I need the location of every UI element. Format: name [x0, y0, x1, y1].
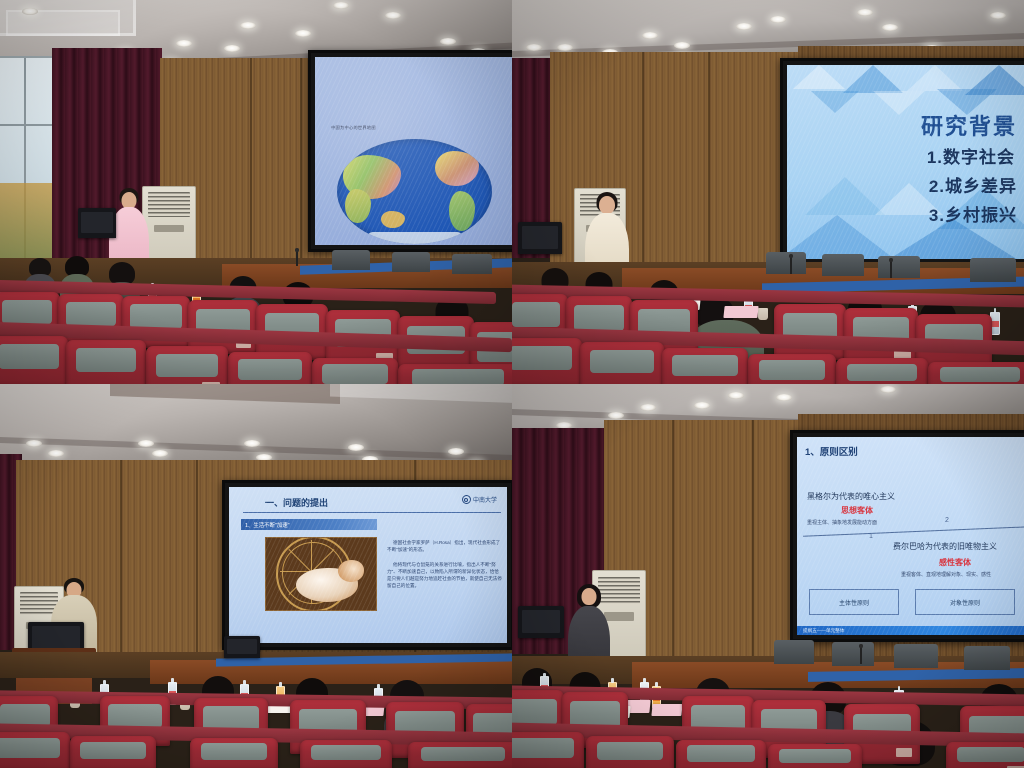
photo-collage: 中国为中心的世界地图 [0, 0, 1024, 768]
ceiling-light [295, 30, 311, 37]
ceiling-light [440, 38, 456, 45]
auditorium-seat [398, 364, 512, 384]
head-table-chair [822, 254, 864, 276]
slide-item: 2.城乡差异 [929, 172, 1017, 197]
ceiling-light [333, 2, 349, 9]
ceiling-light [224, 45, 240, 52]
head-table-chair [964, 646, 1010, 670]
auditorium-seat [946, 742, 1024, 768]
wood-seam [120, 460, 122, 652]
speaker-head [582, 588, 597, 605]
auditorium-seat [928, 362, 1024, 384]
globe-graphic [337, 139, 492, 244]
head-table-chair [832, 642, 874, 666]
auditorium-seat [312, 358, 398, 384]
auditorium-seat [0, 732, 70, 768]
hamster-head [338, 560, 364, 582]
principle-box-label: 主体性原则 [839, 598, 869, 607]
deco-triangle [805, 177, 885, 215]
ceiling-light [694, 402, 710, 409]
ac-vent [148, 192, 190, 217]
slide-footer-label: 提纲五——单元整体 [803, 628, 844, 634]
ceiling-light [770, 16, 786, 23]
projection-screen: 研究背景 1.数字社会 2.城乡差异 3.乡村振兴 [780, 58, 1024, 266]
principle-box-object: 对象性原则 [915, 589, 1015, 615]
auditorium-seat [300, 740, 392, 768]
ceiling-light [776, 394, 792, 401]
deco-triangle [811, 91, 859, 113]
university-seal-icon [462, 495, 471, 504]
slide-world-map: 中国为中心的世界地图 [315, 57, 512, 245]
projection-screen: 1、原则区别 黑格尔为代表的唯心主义 思想客体 重视主体、抽象地发展能动方面 1… [790, 430, 1024, 642]
deco-triangle [907, 65, 963, 91]
auditorium-seat [586, 736, 674, 768]
number-two: 2 [945, 517, 949, 524]
side-monitor [224, 636, 260, 658]
auditorium-seat [774, 304, 846, 360]
ceiling-light [882, 24, 898, 31]
ceiling-light [736, 23, 752, 30]
handout [651, 704, 682, 716]
window-mullion [0, 124, 56, 126]
head-table-chair [392, 252, 430, 272]
map-label: 中国为中心的世界地图 [331, 125, 376, 131]
landmass-north-america [435, 151, 479, 186]
auditorium-seat [836, 358, 928, 384]
table-microphone [860, 646, 862, 664]
auditorium-seat [662, 348, 748, 384]
paper-cup [758, 308, 768, 320]
heading-rule [243, 512, 501, 513]
landmass-africa [345, 189, 371, 223]
ceiling-light [640, 404, 656, 411]
ceiling-light [526, 44, 542, 51]
auditorium-seat [768, 744, 862, 768]
landmass-south-america [449, 191, 475, 231]
ceiling-light [138, 440, 154, 447]
table-microphone [890, 260, 892, 278]
ceiling-light [728, 392, 744, 399]
table-microphone [296, 250, 298, 266]
principle-box-label: 对象性原则 [950, 598, 980, 607]
wood-seam [642, 52, 644, 264]
deco-triangle [793, 65, 845, 89]
university-logo-text: 中南大学 [473, 495, 497, 504]
slide-principle-distinction: 1、原则区别 黑格尔为代表的唯心主义 思想客体 重视主体、抽象地发展能动方面 1… [797, 437, 1024, 635]
presenter-monitor [78, 208, 116, 238]
slide-item: 1.数字社会 [927, 143, 1015, 168]
head-table-chair [774, 640, 814, 664]
head-table-chair [970, 258, 1016, 282]
deco-triangle [843, 65, 903, 93]
ceiling-light [348, 444, 364, 451]
wood-seam [250, 58, 252, 284]
principle-box-subject: 主体性原则 [809, 589, 899, 615]
head-table-chair [332, 250, 370, 270]
screen-surface: 中国为中心的世界地图 [315, 57, 512, 245]
auditorium-seat [748, 354, 836, 384]
slide-problem-statement: 一、问题的提出 中南大学 1、生活不断"加速" [229, 487, 507, 643]
head-table-chair [894, 644, 938, 668]
materialism-highlight: 感性客体 [939, 557, 971, 568]
ceiling-light [22, 8, 38, 15]
panel-world-map-lecture: 中国为中心的世界地图 [0, 0, 512, 384]
wood-seam [196, 460, 198, 652]
wood-seam [708, 52, 710, 264]
landmass-antarctica [367, 232, 463, 244]
auditorium-seat [146, 346, 228, 384]
idealism-detail: 重视主体、抽象地发展能动方面 [807, 519, 877, 526]
ceiling-light [240, 22, 256, 29]
auditorium-seat [580, 342, 664, 384]
slide-heading: 1、原则区别 [805, 444, 858, 458]
auditorium-seat [190, 738, 278, 768]
slide-footer: 提纲五——单元整体 [797, 626, 1024, 635]
idealism-highlight: 思想客体 [841, 505, 873, 516]
table-microphone [790, 256, 792, 274]
wood-seam [672, 420, 674, 666]
window [0, 56, 58, 275]
diagonal-divider [803, 526, 1024, 537]
auditorium-seat [70, 736, 156, 768]
deco-triangle [873, 91, 925, 115]
head-table-chair [452, 254, 492, 274]
speaker-head [599, 196, 615, 214]
auditorium-seat [66, 340, 146, 384]
screen-surface: 1、原则区别 黑格尔为代表的唯心主义 思想客体 重视主体、抽象地发展能动方面 1… [797, 437, 1024, 635]
ceiling-light [608, 412, 624, 419]
university-logo: 中南大学 [462, 495, 497, 504]
auditorium-seat [228, 352, 312, 384]
ceiling-light [48, 450, 64, 457]
number-one: 1 [869, 533, 873, 540]
auditorium-seat [512, 732, 584, 768]
auditorium-seat [0, 336, 68, 384]
auditorium-seat [408, 742, 512, 768]
slide-title: 研究背景 [921, 109, 1017, 141]
materialism-detail: 重视客体、直观地理解对象、现实、感性 [901, 571, 991, 578]
projection-screen: 一、问题的提出 中南大学 1、生活不断"加速" [222, 480, 512, 650]
presenter-monitor [518, 606, 564, 638]
ceiling-coffer [6, 10, 120, 36]
projection-screen: 中国为中心的世界地图 [308, 50, 512, 252]
wood-seam [752, 420, 754, 666]
ac-panel [154, 225, 183, 233]
screen-surface: 研究背景 1.数字社会 2.城乡差异 3.乡村振兴 [787, 65, 1024, 259]
head-table-chair [766, 252, 806, 274]
screen-surface: 一、问题的提出 中南大学 1、生活不断"加速" [229, 487, 507, 643]
hamster-wheel-image [265, 537, 377, 611]
auditorium-seat [676, 740, 766, 768]
auditorium-seat [512, 338, 582, 384]
presenter-monitor [518, 222, 562, 254]
wood-seam [300, 58, 302, 284]
panel-principle-distinction: 1、原则区别 黑格尔为代表的唯心主义 思想客体 重视主体、抽象地发展能动方面 1… [512, 384, 1024, 768]
ceiling-light [857, 9, 873, 16]
ceiling-light [176, 40, 192, 47]
ceiling-light [385, 12, 401, 19]
ceiling-light [674, 42, 690, 49]
panel-research-background: 研究背景 1.数字社会 2.城乡差异 3.乡村振兴 [512, 0, 1024, 384]
section-bar: 1、生活不断"加速" [241, 519, 377, 530]
slide-paragraph: 他将现代与仓鼠笼的关系进行比喻，指出人不断"努力"、不断加速自己，以致陷入所谓的… [387, 561, 503, 589]
slide-paragraph: 德国社会学家罗萨（H.Rosa）指出，现代社会形成了不断"加速"的形态。 [387, 539, 503, 553]
ceiling-light [990, 12, 1006, 19]
slide-research-background: 研究背景 1.数字社会 2.城乡差异 3.乡村振兴 [787, 65, 1024, 259]
ceiling-light [26, 440, 42, 447]
ceiling-light [557, 44, 573, 51]
idealism-title: 黑格尔为代表的唯心主义 [807, 491, 895, 502]
materialism-title: 费尔巴哈为代表的旧唯物主义 [893, 541, 997, 552]
head-table-chair [878, 256, 920, 278]
slide-heading: 一、问题的提出 [265, 496, 328, 509]
ceiling-light [152, 450, 168, 457]
ceiling-light [244, 440, 260, 447]
landmass-australia [381, 211, 405, 228]
ceiling-light [448, 448, 464, 455]
slide-item: 3.乡村振兴 [929, 201, 1017, 226]
section-bar-label: 1、生活不断"加速" [245, 521, 290, 529]
panel-problem-statement: 一、问题的提出 中南大学 1、生活不断"加速" [0, 384, 512, 768]
ceiling-light [880, 386, 896, 393]
ceiling-light [642, 32, 658, 39]
handout [723, 306, 758, 318]
